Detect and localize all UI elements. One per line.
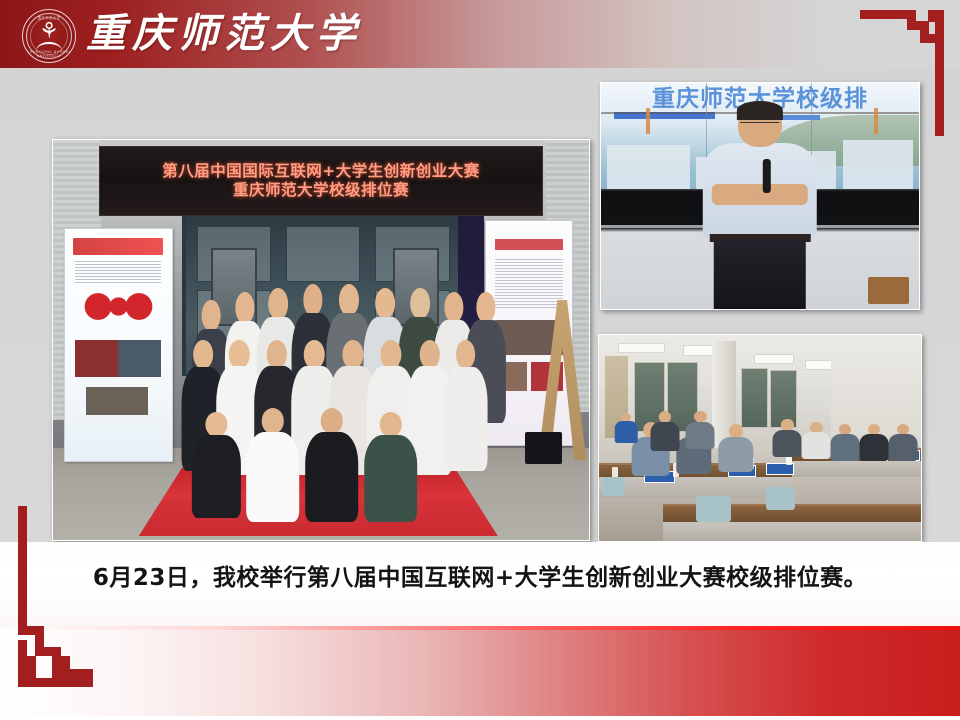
- university-emblem-icon: 重庆师范大学 ⚘ CHONGQING NORMAL UNIVERSITY: [22, 9, 76, 63]
- page-title: 重庆师范大学: [86, 6, 362, 62]
- audience-people: [599, 335, 921, 541]
- photo-crowd: [53, 140, 589, 540]
- speaker-photo[interactable]: 重庆师范大学校级排: [600, 82, 920, 310]
- speaker-figure: [703, 101, 817, 309]
- page-header: 重庆师范大学 ⚘ CHONGQING NORMAL UNIVERSITY 重庆师…: [0, 0, 960, 68]
- footer-edge: [0, 716, 960, 720]
- audience-photo[interactable]: [598, 334, 922, 542]
- corner-bracket-bottom-left-icon: [18, 506, 158, 696]
- emblem-flame-icon: ⚘: [39, 21, 59, 43]
- slide: 重庆师范大学 ⚘ CHONGQING NORMAL UNIVERSITY 重庆师…: [0, 0, 960, 720]
- emblem-bottom-text: CHONGQING NORMAL UNIVERSITY: [23, 50, 75, 58]
- microphone-icon: [762, 159, 770, 192]
- group-photo[interactable]: 第八届中国国际互联网+大学生创新创业大赛 重庆师范大学校级排位赛: [52, 139, 590, 541]
